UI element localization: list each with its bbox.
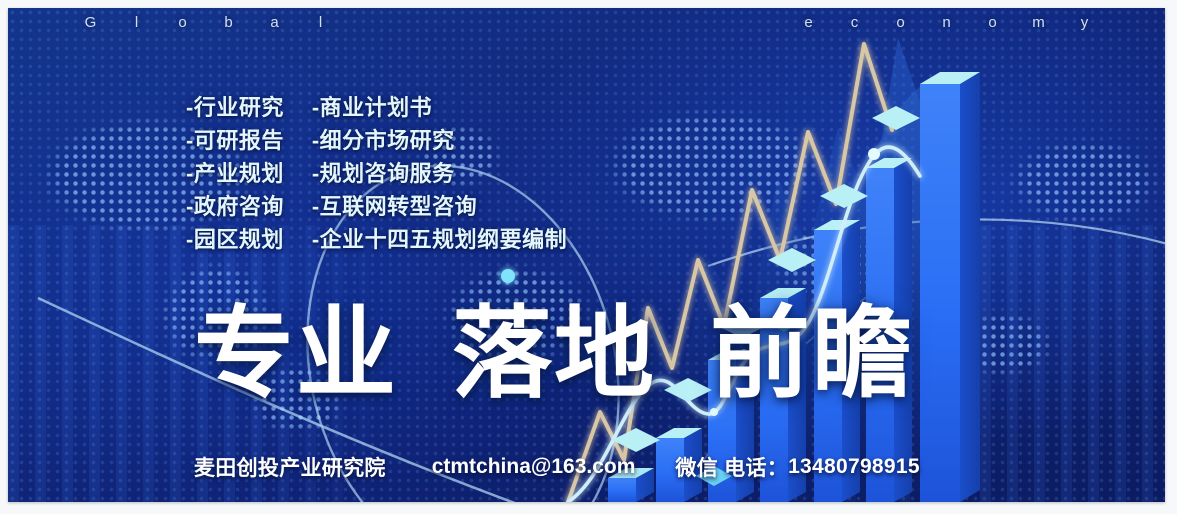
banner-frame: Global economy -行业研究 -可研报告 -产业规划 -政府咨询 -… — [0, 0, 1177, 514]
top-tagline-letter: G — [68, 14, 114, 31]
slogan-part-1: 专业 — [194, 304, 398, 404]
footer-contact: 麦田创投产业研究院 ctmtchina@163.com 微信 电话： 13480… — [194, 452, 920, 482]
company-name: 麦田创投产业研究院 — [194, 452, 386, 482]
services-column-right: -商业计划书 -细分市场研究 -规划咨询服务 -互联网转型咨询 -企业十四五规划… — [312, 92, 567, 255]
bar-7 — [920, 72, 980, 502]
service-item: -园区规划 — [186, 224, 284, 255]
top-tagline-word-global: Global — [68, 14, 344, 31]
email-address: ctmtchina@163.com — [432, 455, 636, 479]
service-item: -可研报告 — [186, 125, 284, 156]
contact-label: 微信 电话： — [675, 452, 788, 482]
service-item: -企业十四五规划纲要编制 — [312, 224, 567, 255]
top-tagline-letter: o — [970, 14, 1016, 31]
economy-chart-illustration — [8, 8, 1165, 502]
service-item: -行业研究 — [186, 92, 284, 123]
top-tagline-letter: l — [114, 14, 160, 31]
top-tagline-letter: e — [786, 14, 832, 31]
top-tagline-letter: n — [924, 14, 970, 31]
marketing-banner: Global economy -行业研究 -可研报告 -产业规划 -政府咨询 -… — [8, 8, 1165, 502]
service-item: -商业计划书 — [312, 92, 567, 123]
services-column-left: -行业研究 -可研报告 -产业规划 -政府咨询 -园区规划 — [186, 92, 284, 255]
services-list: -行业研究 -可研报告 -产业规划 -政府咨询 -园区规划 -商业计划书 -细分… — [186, 92, 567, 255]
service-item: -细分市场研究 — [312, 125, 567, 156]
top-tagline-letter: a — [252, 14, 298, 31]
top-tagline-letter: b — [206, 14, 252, 31]
curve-peak-dot — [868, 148, 880, 160]
top-tagline-word-economy: economy — [786, 14, 1108, 31]
top-tagline-letter: o — [160, 14, 206, 31]
main-slogan: 专业 落地 前瞻 — [194, 304, 914, 404]
top-tagline-letter: l — [298, 14, 344, 31]
service-item: -政府咨询 — [186, 191, 284, 222]
top-tagline-letter: o — [878, 14, 924, 31]
service-item: -规划咨询服务 — [312, 158, 567, 189]
orbit-node-dot — [501, 269, 515, 283]
slogan-part-2: 落地 — [452, 304, 656, 404]
top-tagline-letter: y — [1062, 14, 1108, 31]
top-tagline-letter: m — [1016, 14, 1062, 31]
phone-number: 13480798915 — [788, 455, 920, 479]
slogan-part-3: 前瞻 — [710, 304, 914, 404]
service-item: -产业规划 — [186, 158, 284, 189]
service-item: -互联网转型咨询 — [312, 191, 567, 222]
top-tagline-letter: c — [832, 14, 878, 31]
top-tagline: Global economy — [68, 14, 1108, 31]
